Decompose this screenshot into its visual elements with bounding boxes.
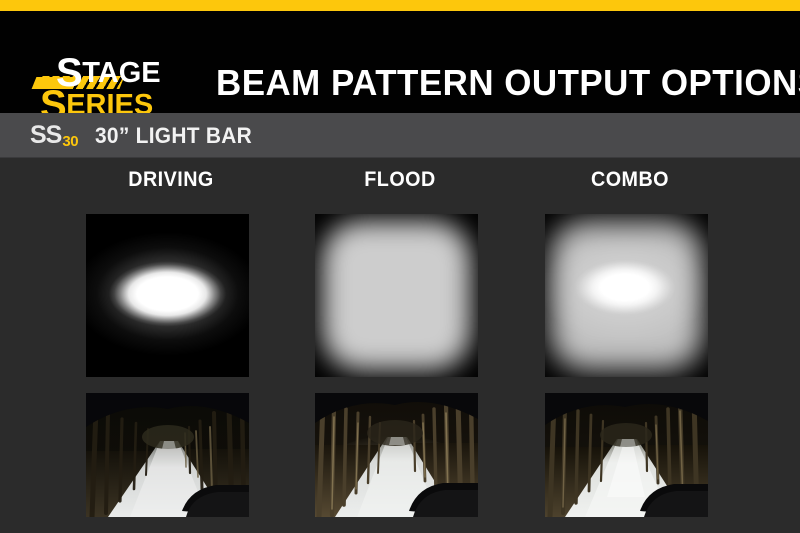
- model-code: SS30: [30, 123, 78, 149]
- column-title-combo: COMBO: [522, 168, 738, 192]
- combo-road-photo: [545, 393, 708, 517]
- combo-beam-pattern: [545, 214, 708, 377]
- driving-road-photo: [86, 393, 249, 517]
- product-subheader-bar: SS30 30” LIGHT BAR: [0, 113, 800, 158]
- product-label: 30” LIGHT BAR: [95, 125, 252, 147]
- flood-road-photo: [315, 393, 478, 517]
- column-title-driving: DRIVING: [63, 168, 279, 192]
- column-combo: COMBO: [515, 158, 745, 533]
- flood-beam-pattern: [315, 214, 478, 377]
- stage-series-logo: STAGE SERIES: [32, 33, 202, 113]
- page-title: BEAM PATTERN OUTPUT OPTIONS: [216, 59, 769, 107]
- column-driving: DRIVING: [56, 158, 286, 533]
- column-title-flood: FLOOD: [292, 168, 508, 192]
- model-code-suffix: 30: [62, 133, 78, 150]
- beam-comparison-columns: DRIVING: [0, 158, 800, 533]
- top-accent-stripe: [0, 0, 800, 11]
- model-code-prefix: SS: [30, 121, 61, 149]
- driving-beam-pattern: [86, 214, 249, 377]
- beam-pattern-infographic: STAGE SERIES BEAM PATTERN OUTPUT OPTIONS…: [0, 0, 800, 533]
- column-flood: FLOOD: [285, 158, 515, 533]
- header-band: STAGE SERIES BEAM PATTERN OUTPUT OPTIONS: [0, 11, 800, 113]
